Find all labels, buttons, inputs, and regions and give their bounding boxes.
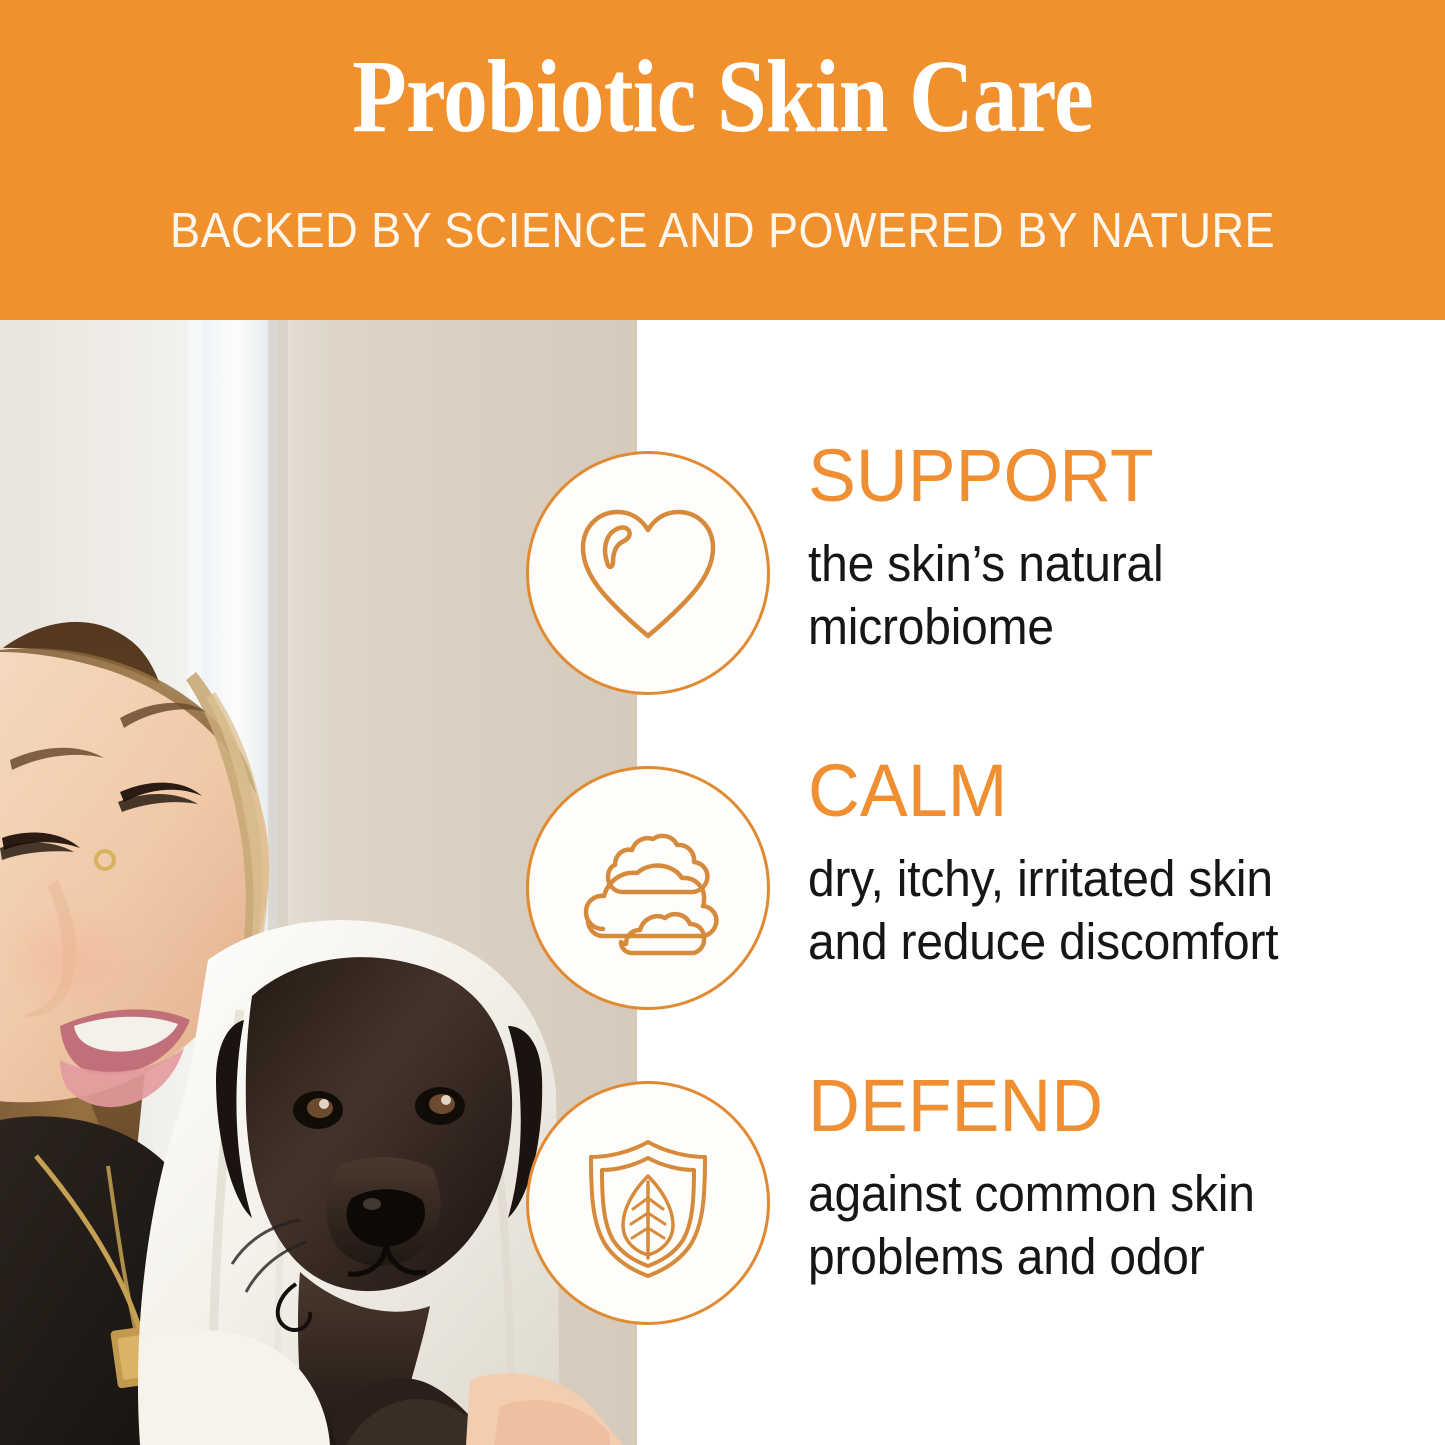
defend-line-2: problems and odor xyxy=(808,1226,1381,1288)
support-line-2: microbiome xyxy=(808,596,1381,658)
page-subtitle: BACKED BY SCIENCE AND POWERED BY NATURE xyxy=(58,205,1387,259)
feature-support: SUPPORT the skin’s natural microbiome xyxy=(0,451,1445,701)
calm-body: dry, itchy, irritated skin and reduce di… xyxy=(808,848,1381,972)
calm-badge xyxy=(526,766,770,1010)
infographic-page: Probiotic Skin Care BACKED BY SCIENCE AN… xyxy=(0,0,1445,1445)
heart-icon xyxy=(563,488,733,658)
defend-line-1: against common skin xyxy=(808,1163,1381,1225)
support-body: the skin’s natural microbiome xyxy=(808,533,1381,657)
defend-badge xyxy=(526,1081,770,1325)
support-line-1: the skin’s natural xyxy=(808,533,1381,595)
header-banner: Probiotic Skin Care BACKED BY SCIENCE AN… xyxy=(0,0,1445,320)
shield-leaf-icon xyxy=(563,1118,733,1288)
feature-defend: DEFEND against common skin problems and … xyxy=(0,1081,1445,1331)
defend-heading: DEFEND xyxy=(808,1071,1400,1141)
calm-text-block: CALM dry, itchy, irritated skin and redu… xyxy=(808,756,1418,973)
calm-line-1: dry, itchy, irritated skin xyxy=(808,848,1381,910)
calm-line-2: and reduce discomfort xyxy=(808,911,1381,973)
support-text-block: SUPPORT the skin’s natural microbiome xyxy=(808,441,1418,658)
defend-body: against common skin problems and odor xyxy=(808,1163,1381,1287)
feature-calm: CALM dry, itchy, irritated skin and redu… xyxy=(0,766,1445,1016)
support-badge xyxy=(526,451,770,695)
page-title: Probiotic Skin Care xyxy=(101,42,1344,151)
calm-heading: CALM xyxy=(808,756,1400,826)
support-heading: SUPPORT xyxy=(808,441,1400,511)
clouds-icon xyxy=(563,803,733,973)
defend-text-block: DEFEND against common skin problems and … xyxy=(808,1071,1418,1288)
